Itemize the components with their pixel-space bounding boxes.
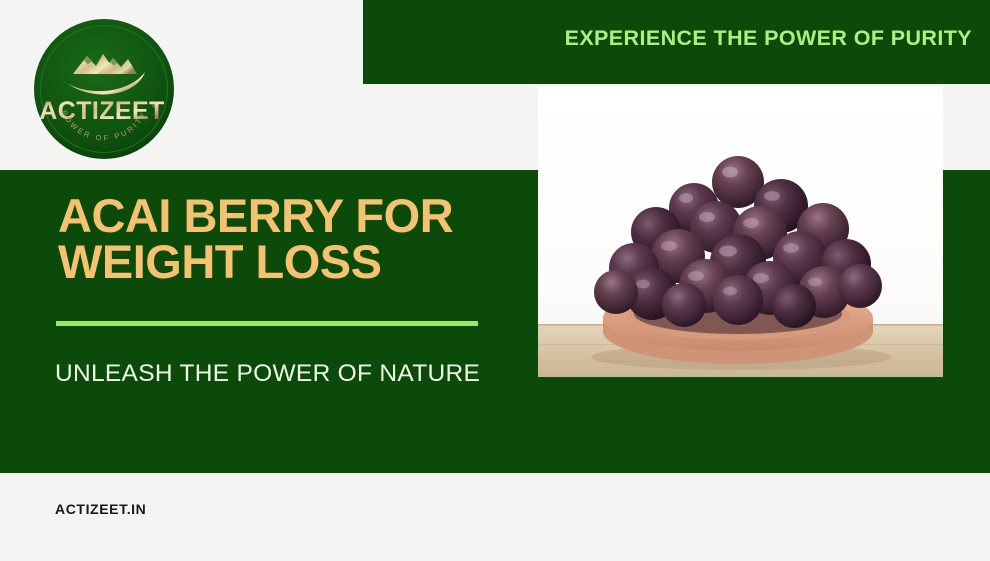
headline-line-1: ACAI BERRY FOR [58, 189, 453, 242]
subheadline: UNLEASH THE POWER OF NATURE [55, 360, 480, 388]
promo-banner: EXPERIENCE THE POWER OF PURITY [0, 0, 990, 561]
registered-mark-icon: ® [152, 102, 158, 110]
logo-badge-icon: ACTIZEET ® POWER OF PURITY [33, 18, 175, 160]
brand-logo[interactable]: ACTIZEET ® POWER OF PURITY [33, 18, 175, 160]
headline: ACAI BERRY FOR WEIGHT LOSS [58, 193, 528, 285]
logo-wordmark: ACTIZEET [39, 97, 164, 125]
header-bar: EXPERIENCE THE POWER OF PURITY [363, 0, 990, 84]
footer-website-url[interactable]: ACTIZEET.IN [55, 501, 146, 517]
headline-divider [56, 321, 478, 326]
product-photo [538, 86, 943, 377]
header-tagline: EXPERIENCE THE POWER OF PURITY [363, 26, 972, 51]
headline-line-2: WEIGHT LOSS [58, 239, 528, 285]
acai-berries-image [538, 86, 943, 377]
